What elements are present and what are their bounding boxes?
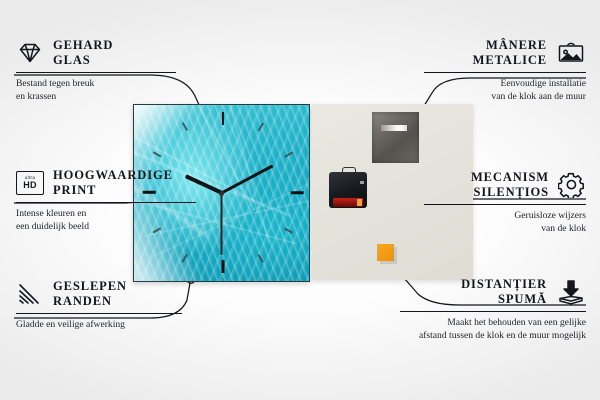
feature-description: Gladde en veilige afwerking	[16, 318, 182, 332]
hanger-slot	[381, 125, 407, 131]
clock-center-hub	[219, 191, 224, 196]
feature-mecanism-silentios: MECANISM SILENȚIOS Geruisloze wijzers va…	[424, 170, 586, 236]
feature-divider	[424, 204, 586, 205]
bevelled-edges-icon	[16, 282, 44, 306]
diamond-icon	[16, 41, 44, 65]
feature-description: Geruisloze wijzers van de klok	[424, 209, 586, 236]
feature-description: Maakt het behouden van een gelijke afsta…	[400, 316, 586, 343]
feature-divider	[16, 313, 182, 314]
down-arrow-on-layers-icon	[556, 279, 586, 305]
feature-title: GESLEPEN RANDEN	[53, 279, 127, 310]
feature-manere-metalice: MÂNERE METALICE Eenvoudige installatie v…	[424, 38, 586, 104]
movement-body	[329, 172, 367, 208]
feature-title: DISTANȚIER SPUMĂ	[461, 277, 547, 308]
metal-hanger	[372, 112, 419, 163]
clock-second-hand	[221, 193, 223, 255]
feature-gehard-glas: GEHARD GLAS Bestand tegen breuk en krass…	[16, 38, 176, 104]
battery-positive-tip	[357, 199, 362, 206]
feature-distantier-spuma: DISTANȚIER SPUMĂ Maakt het behouden van …	[400, 277, 586, 343]
feature-title: GEHARD GLAS	[53, 38, 113, 69]
feature-description: Eenvoudige installatie van de klok aan d…	[424, 77, 586, 104]
feature-divider	[16, 202, 196, 203]
feature-description: Bestand tegen breuk en krassen	[16, 77, 176, 104]
feature-title: MÂNERE METALICE	[473, 38, 547, 69]
feature-hoogwaardige-print: ultraHD HOOGWAARDIGE PRINT Intense kleur…	[16, 168, 196, 234]
feature-geslepen-randen: GESLEPEN RANDEN Gladde en veilige afwerk…	[16, 279, 182, 331]
picture-frame-icon	[556, 41, 586, 65]
feature-divider	[400, 311, 586, 312]
aa-battery	[333, 198, 363, 207]
feature-divider	[16, 72, 176, 73]
infographic-canvas: GEHARD GLAS Bestand tegen breuk en krass…	[0, 0, 600, 400]
movement-marking	[360, 181, 364, 184]
feature-title: HOOGWAARDIGE PRINT	[53, 168, 173, 199]
feature-title: MECANISM SILENȚIOS	[471, 170, 549, 201]
ultra-hd-icon: ultraHD	[16, 171, 44, 195]
quartz-movement	[329, 167, 367, 208]
feature-description: Intense kleuren en een duidelijk beeld	[16, 207, 196, 234]
gear-icon	[558, 172, 586, 198]
feature-divider	[424, 72, 586, 73]
orange-foam-spacer	[377, 244, 394, 261]
